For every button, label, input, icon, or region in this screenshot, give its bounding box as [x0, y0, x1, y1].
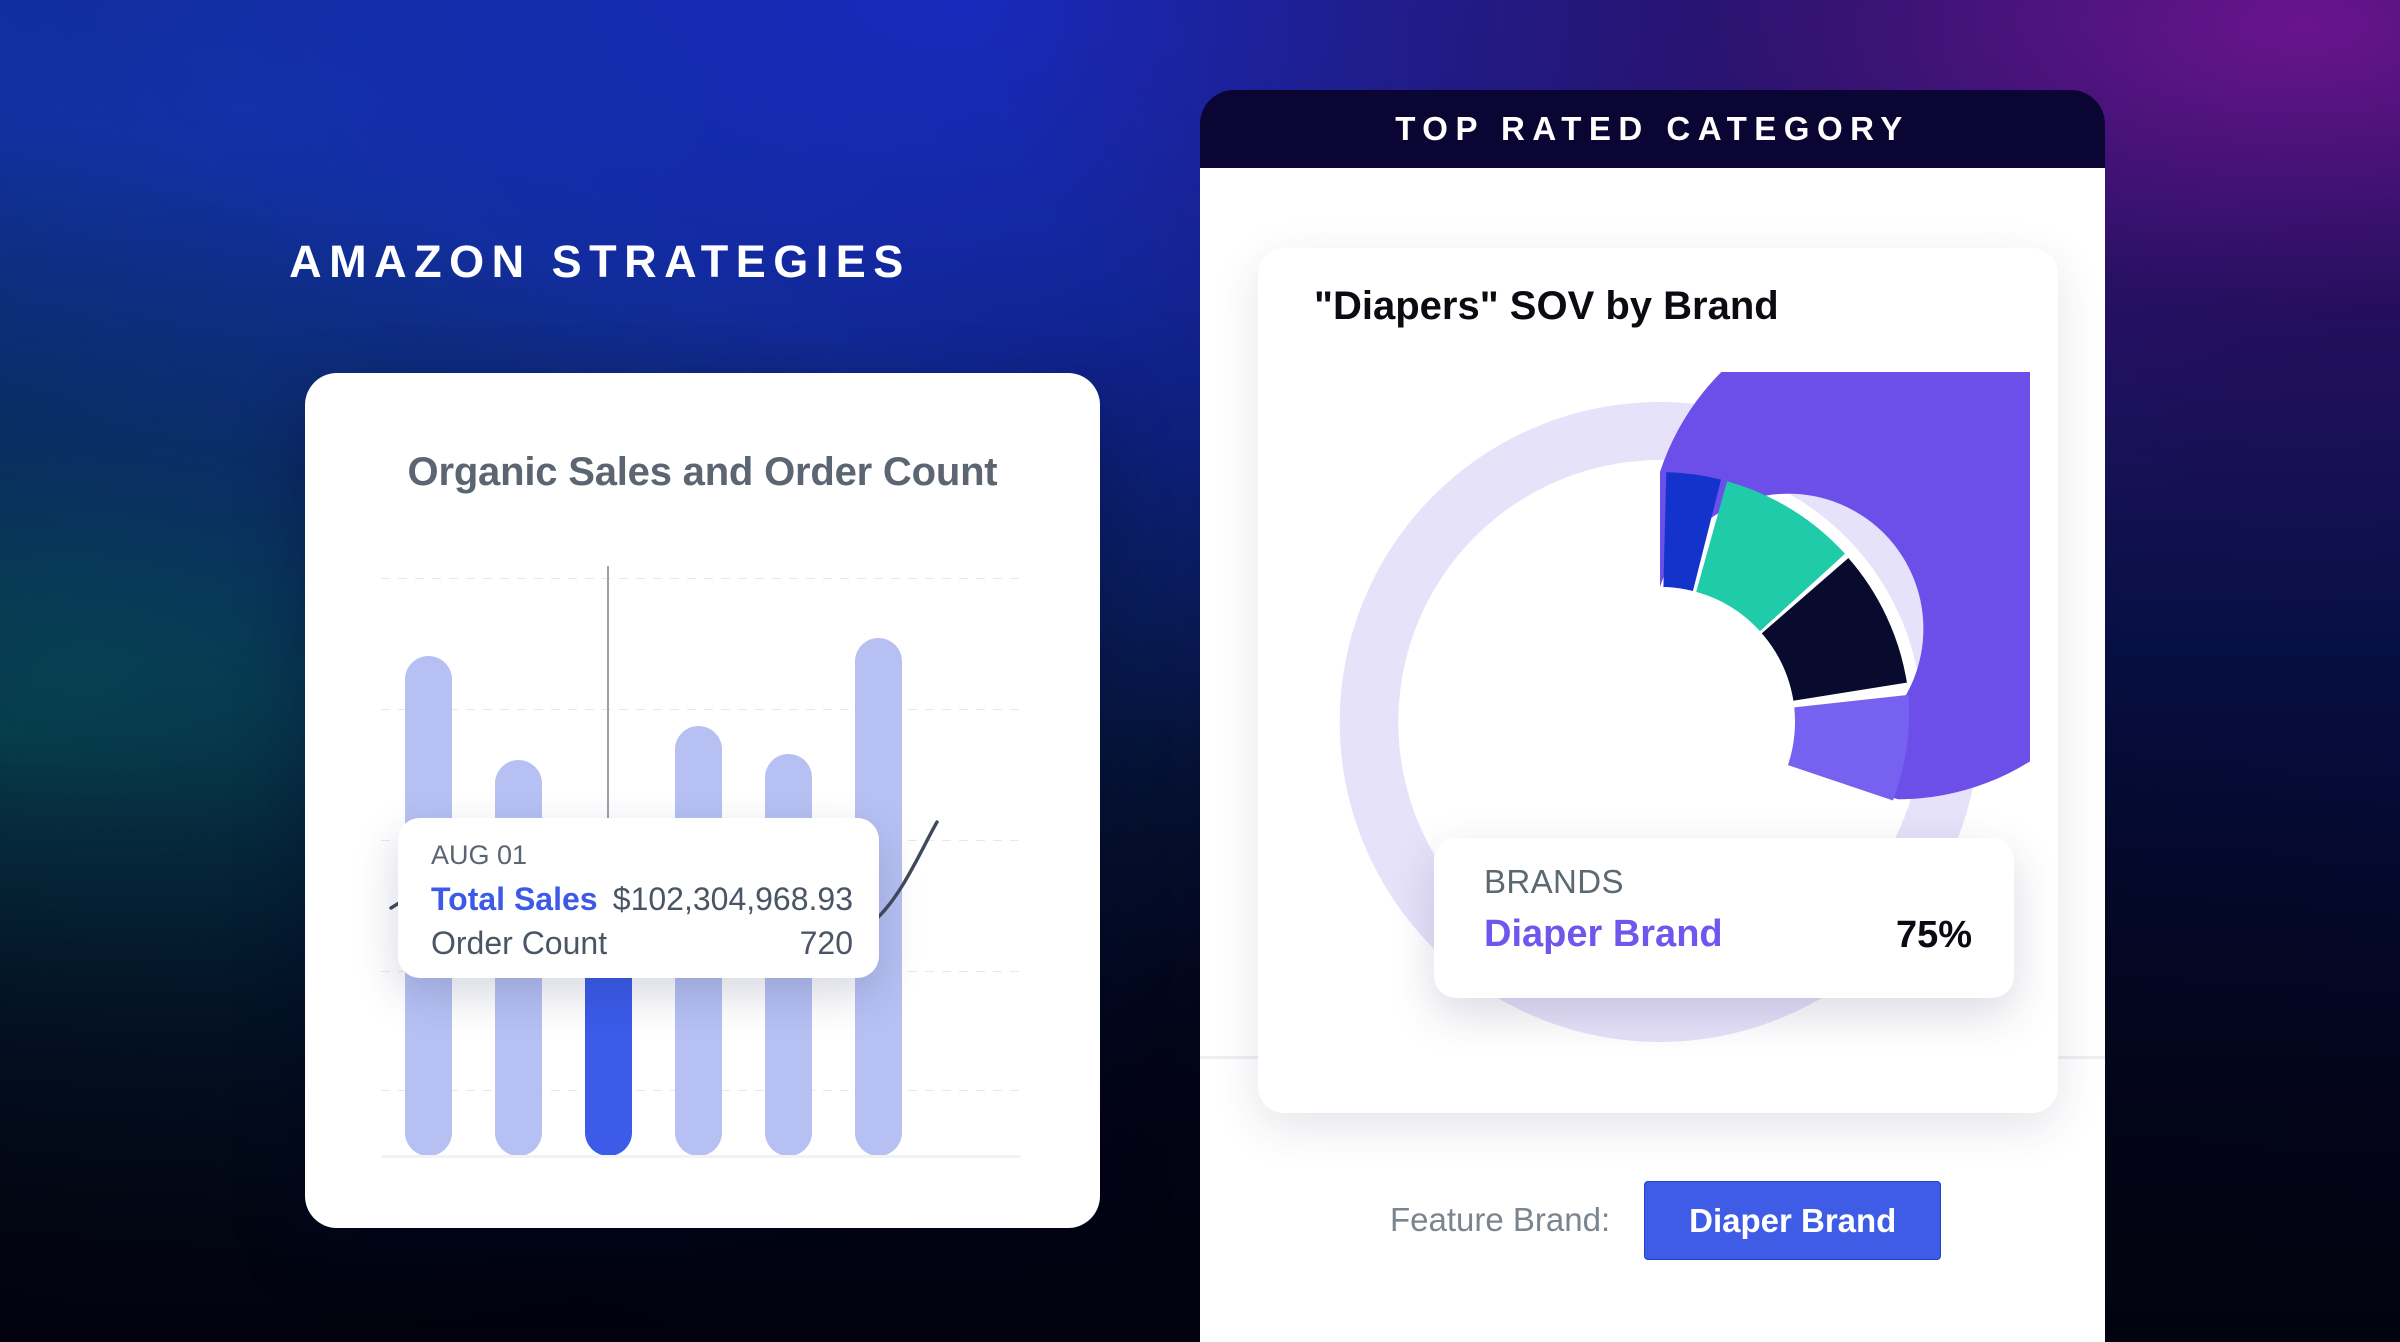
- top-rated-category-header: TOP RATED CATEGORY: [1200, 90, 2105, 168]
- tooltip-brand: Diaper Brand: [1484, 913, 1723, 956]
- donut-chart-tooltip: BRANDS Diaper Brand 75%: [1434, 838, 2014, 998]
- tooltip-row1-label: Total Sales: [431, 881, 598, 918]
- feature-brand-row: Feature Brand: Diaper Brand: [1390, 1180, 1941, 1260]
- organic-sales-card: Organic Sales and Order Count: [305, 373, 1100, 1228]
- feature-brand-button[interactable]: Diaper Brand: [1644, 1181, 1941, 1260]
- top-rated-category-label: TOP RATED CATEGORY: [1200, 90, 2105, 168]
- tooltip-row2-value: 720: [800, 925, 853, 962]
- x-axis: [381, 1155, 1021, 1158]
- feature-brand-label: Feature Brand:: [1390, 1201, 1610, 1239]
- card-title: Organic Sales and Order Count: [305, 450, 1100, 495]
- donut-hole: [1525, 587, 1795, 857]
- donut-segment-5: [1786, 695, 1909, 801]
- tooltip-row1-value: $102,304,968.93: [613, 881, 853, 918]
- tooltip-header: BRANDS: [1484, 863, 1624, 901]
- tooltip-row2-label: Order Count: [431, 925, 607, 962]
- page-title: AMAZON STRATEGIES: [0, 236, 1200, 288]
- tooltip-date: AUG 01: [431, 840, 527, 871]
- bar-chart-tooltip: AUG 01 Total Sales $102,304,968.93 Order…: [398, 818, 879, 978]
- tooltip-percent: 75%: [1896, 914, 1972, 957]
- sov-chart-title: "Diapers" SOV by Brand: [1314, 284, 1779, 329]
